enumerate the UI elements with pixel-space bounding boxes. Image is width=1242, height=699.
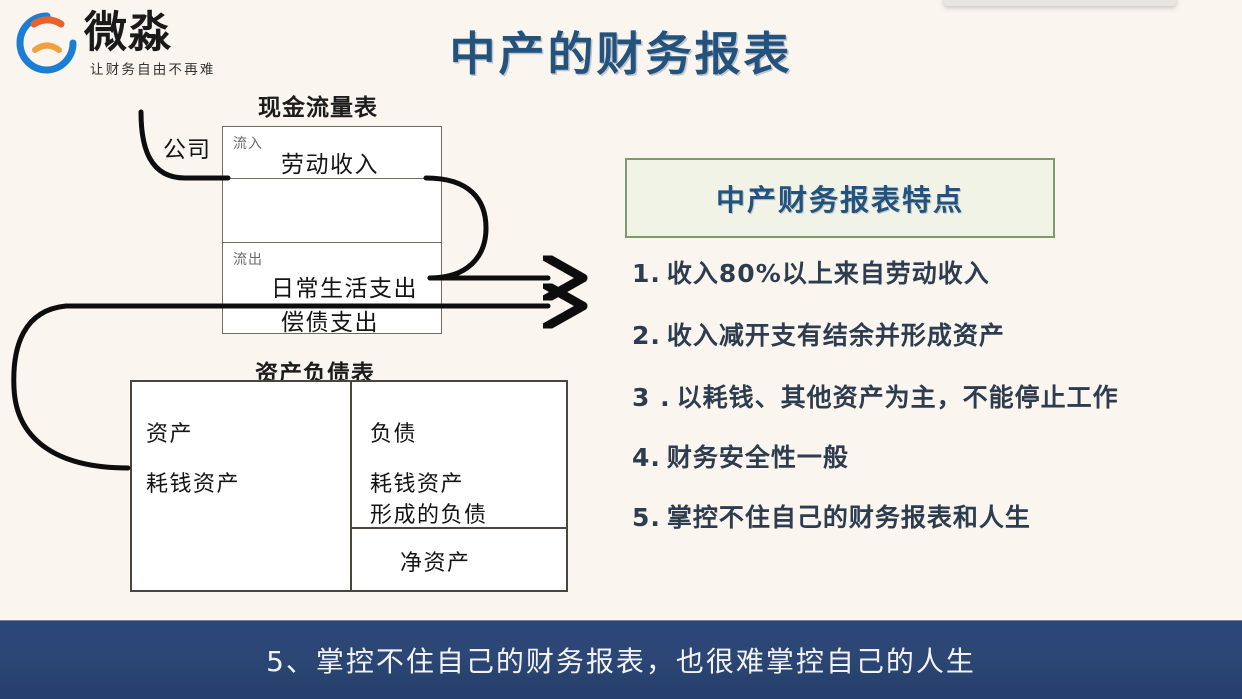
- page-title: 中产的财务报表: [0, 18, 1242, 84]
- slide-canvas: 微淼 让财务自由不再难 中产的财务报表 现金流量表 公司 流入 劳动收入 流出 …: [0, 0, 1242, 699]
- liabilities-item-line2: 形成的负债: [370, 497, 488, 529]
- cash-flow-row-blank: [223, 179, 441, 243]
- cash-flow-row-inflow: 流入 劳动收入: [223, 127, 441, 179]
- outflow-tag: 流出: [233, 249, 263, 269]
- list-item: 5.掌控不住自己的财务报表和人生: [632, 498, 1031, 534]
- outflow-value: 日常生活支出: [271, 269, 418, 303]
- features-title-box: 中产财务报表特点: [625, 158, 1055, 238]
- caption-text: 5、掌控不住自己的财务报表，也很难掌控自己的人生: [266, 640, 976, 680]
- features-title: 中产财务报表特点: [716, 177, 964, 219]
- assets-title: 资产: [146, 416, 193, 448]
- list-item-label: 收入80%以上来自劳动收入: [667, 259, 990, 288]
- debt-to-assets-curve: [14, 306, 128, 468]
- cash-flow-row-debt-repayment: 偿债支出: [223, 305, 441, 335]
- balance-sheet-vertical-divider: [350, 382, 352, 590]
- list-item-number: 3 .: [632, 383, 671, 412]
- caption-bar: 5、掌控不住自己的财务报表，也很难掌控自己的人生: [0, 620, 1242, 699]
- top-ui-strip: [944, 0, 1176, 6]
- financial-statements-diagram: 现金流量表 公司 流入 劳动收入 流出 日常生活支出 偿债支出 资产负债表 资产…: [0, 88, 600, 608]
- list-item: 1.收入80%以上来自劳动收入: [632, 254, 990, 290]
- balance-sheet-table: 资产 耗钱资产 负债 耗钱资产 形成的负债 净资产: [130, 380, 568, 592]
- list-item-number: 4.: [632, 443, 661, 472]
- liabilities-title: 负债: [370, 416, 417, 448]
- cash-flow-caption: 现金流量表: [258, 88, 378, 122]
- net-assets-label: 净资产: [400, 545, 471, 577]
- inflow-value: 劳动收入: [281, 145, 379, 179]
- cash-flow-row-outflow: 流出 日常生活支出: [223, 243, 441, 305]
- assets-item: 耗钱资产: [146, 466, 240, 498]
- debt-expense-value: 偿债支出: [281, 303, 379, 337]
- list-item: 3 .以耗钱、其他资产为主，不能停止工作: [632, 378, 1119, 414]
- list-item-number: 1.: [632, 259, 661, 288]
- cash-flow-table: 流入 劳动收入 流出 日常生活支出 偿债支出: [222, 126, 442, 334]
- list-item-label: 收入减开支有结余并形成资产: [667, 321, 1005, 350]
- company-source-label: 公司: [163, 130, 211, 164]
- list-item-number: 5.: [632, 503, 661, 532]
- list-item: 4.财务安全性一般: [632, 438, 849, 474]
- list-item-label: 财务安全性一般: [667, 443, 849, 472]
- list-item-label: 掌控不住自己的财务报表和人生: [667, 503, 1031, 532]
- list-item-number: 2.: [632, 321, 661, 350]
- inflow-tag: 流入: [233, 133, 263, 153]
- list-item-label: 以耗钱、其他资产为主，不能停止工作: [677, 383, 1119, 412]
- liabilities-item-line1: 耗钱资产: [370, 466, 464, 498]
- list-item: 2.收入减开支有结余并形成资产: [632, 316, 1005, 352]
